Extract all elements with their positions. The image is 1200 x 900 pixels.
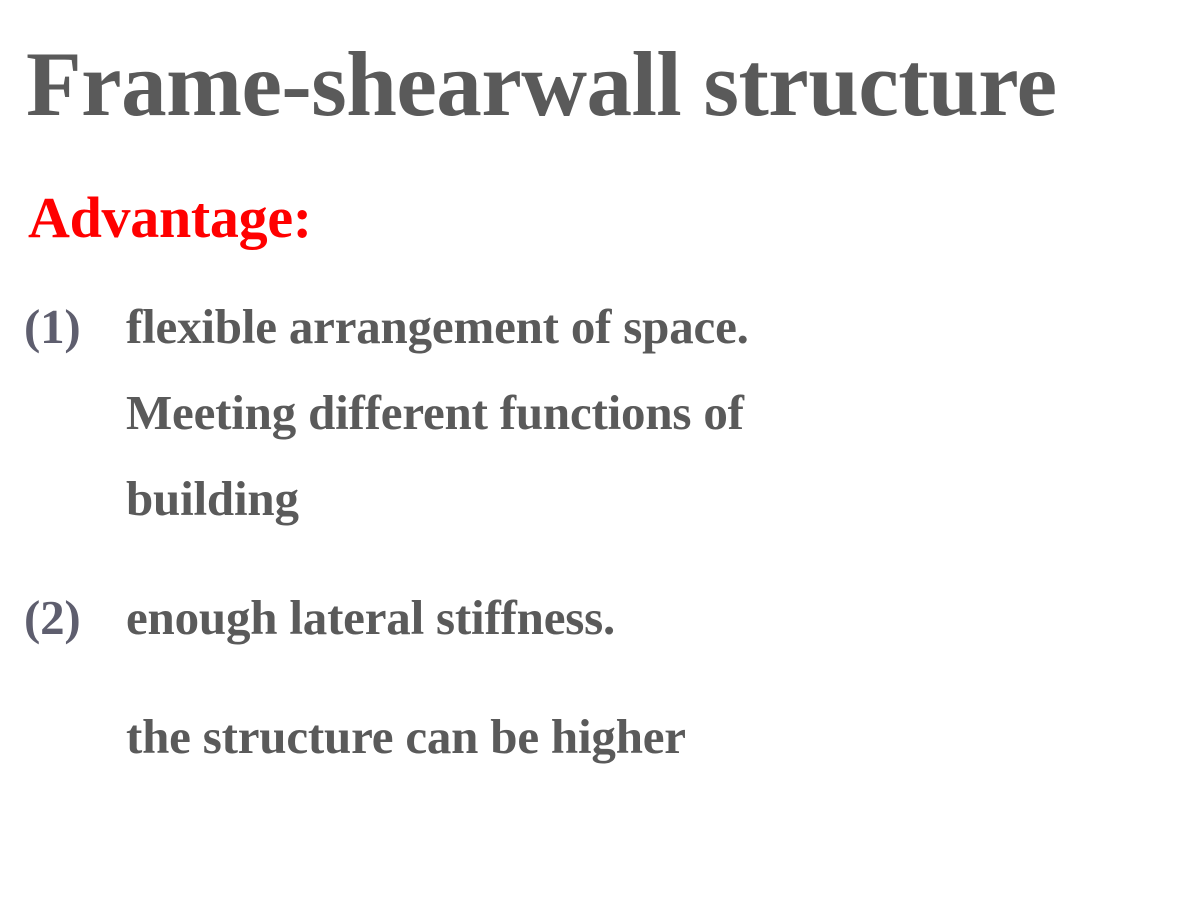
list-item-line: enough lateral stiffness. (126, 575, 1200, 661)
slide-canvas: Frame-shearwall structure Advantage: (1)… (0, 0, 1200, 900)
list-item: (1) flexible arrangement of space. Meeti… (0, 284, 1200, 542)
trailing-text-line: the structure can be higher (126, 694, 1200, 780)
list-marker-2: (2) (24, 575, 124, 661)
slide-body: Advantage: (1) flexible arrangement of s… (0, 186, 1200, 780)
advantage-list: (1) flexible arrangement of space. Meeti… (0, 284, 1200, 661)
list-item: (2) enough lateral stiffness. (0, 575, 1200, 661)
list-item-line: building (126, 456, 1200, 542)
advantage-heading: Advantage: (28, 186, 1200, 250)
list-item-line: flexible arrangement of space. (126, 284, 1200, 370)
list-marker-1: (1) (24, 284, 124, 370)
list-item-line: Meeting different functions of (126, 370, 1200, 456)
page-title: Frame-shearwall structure (26, 34, 1179, 134)
